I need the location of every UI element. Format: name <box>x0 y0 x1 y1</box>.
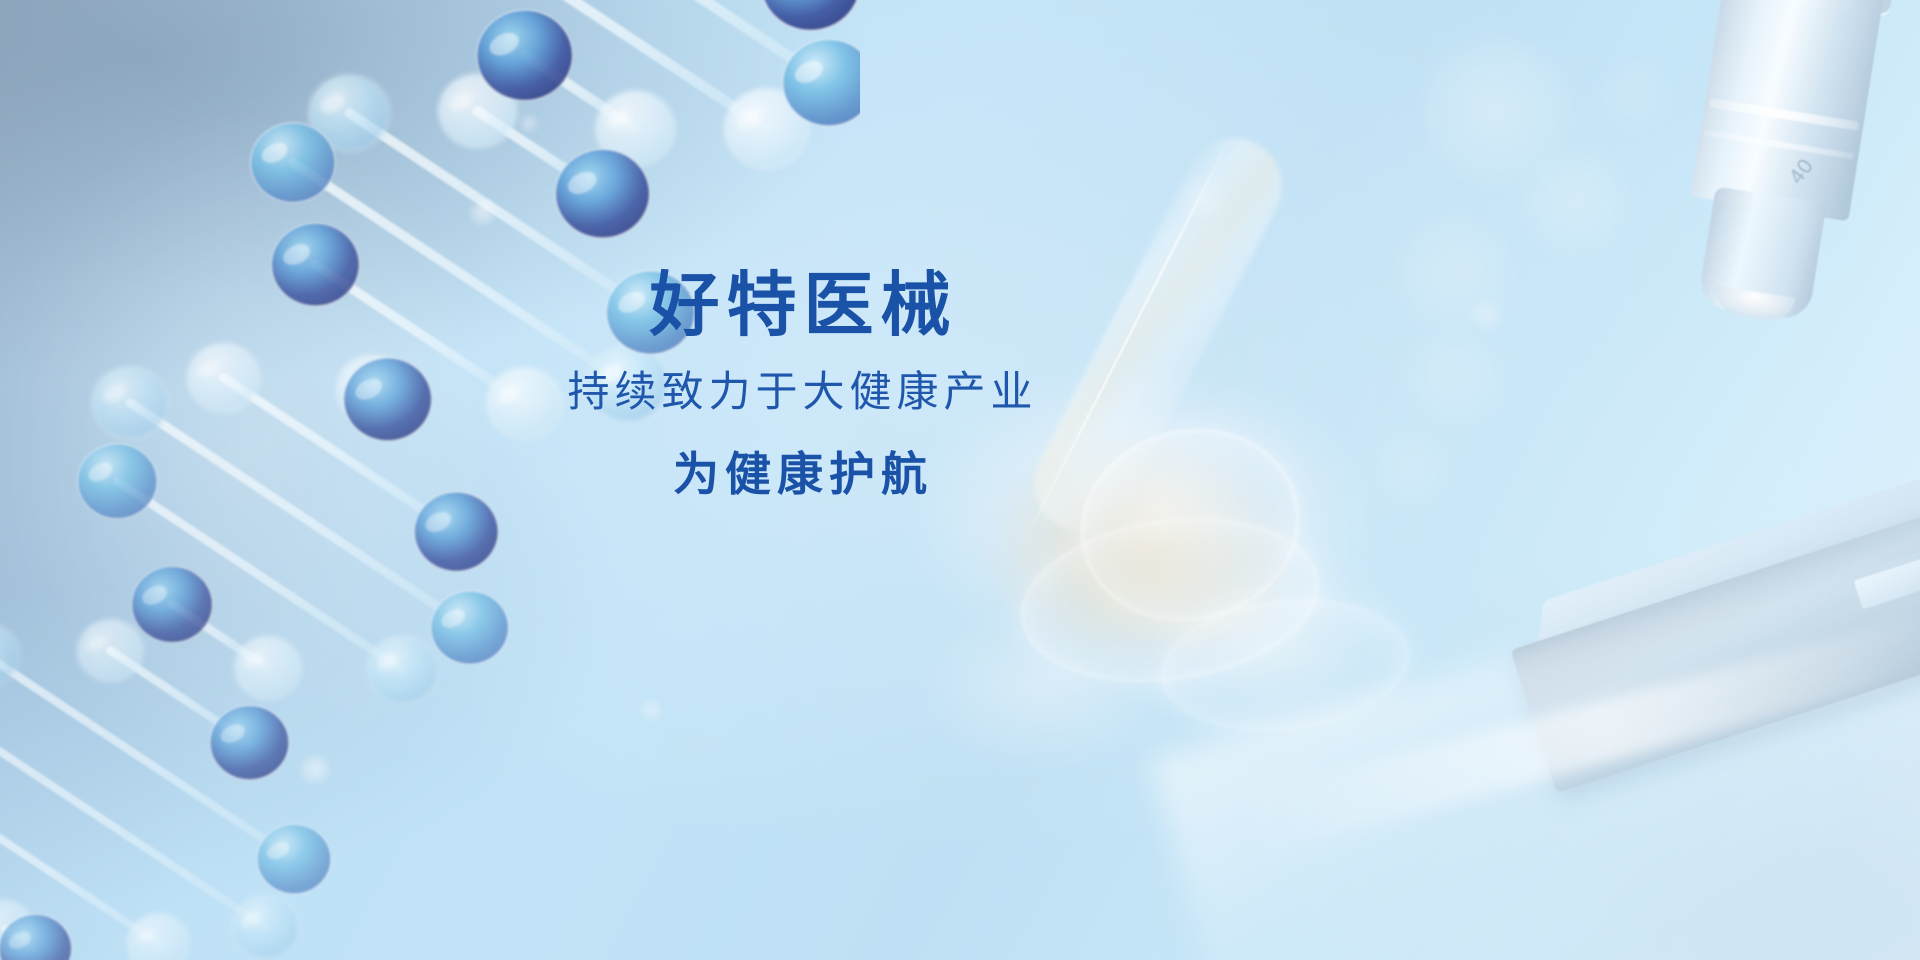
page-slogan: 为健康护航 <box>0 449 1600 501</box>
page-title: 好特医械 <box>0 268 1600 344</box>
hero-text-block: 好特医械 持续致力于大健康产业 为健康护航 <box>0 268 1600 500</box>
hero-banner: 40 <box>0 0 1920 960</box>
page-subtitle: 持续致力于大健康产业 <box>0 368 1600 415</box>
